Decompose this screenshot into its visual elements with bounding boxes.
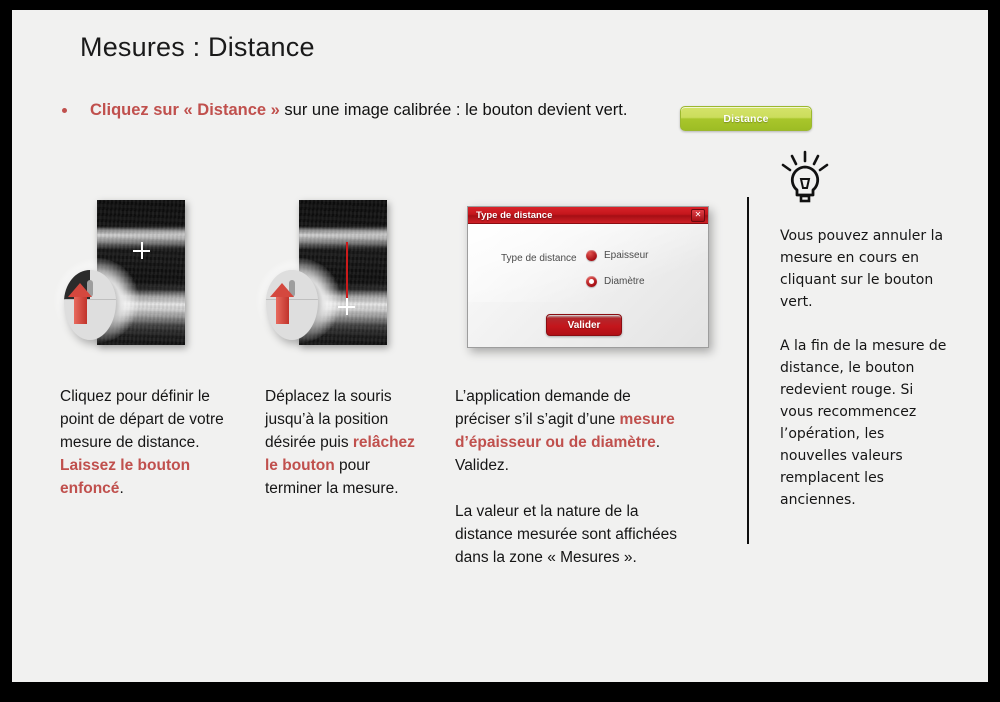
radio-label-epaisseur: Epaisseur [604, 250, 648, 261]
caption1-highlight: Laissez le bouton enfoncé [60, 457, 190, 497]
caption3-plain1: L’application demande de préciser s’il s… [455, 388, 631, 428]
bullet-row: Cliquez sur « Distance » sur une image c… [62, 98, 762, 126]
radio-label-diametre: Diamètre [604, 276, 645, 287]
sidebar-divider [747, 197, 749, 544]
caption3-paragraph-2: La valeur et la nature de la distance me… [455, 500, 680, 569]
distance-button-label: Distance [723, 113, 768, 125]
measure-line [346, 242, 348, 306]
figure-click-start [60, 200, 235, 350]
caption-column-3: L’application demande de préciser s’il s… [455, 385, 680, 569]
page-title: Mesures : Distance [80, 32, 315, 63]
dialog-title: Type de distance [476, 210, 552, 221]
figure-drag-release [262, 200, 437, 350]
distance-button[interactable]: Distance [680, 106, 812, 131]
lightbulb-icon [774, 150, 836, 205]
close-icon[interactable]: ✕ [691, 209, 705, 222]
radio-dot-icon [586, 250, 597, 261]
bullet-text: Cliquez sur « Distance » sur une image c… [90, 98, 627, 122]
caption3-paragraph-1: L’application demande de préciser s’il s… [455, 385, 680, 477]
caption-column-1: Cliquez pour définir le point de départ … [60, 385, 225, 500]
radio-option-epaisseur[interactable]: Epaisseur [586, 250, 648, 261]
mouse-right-button [292, 270, 318, 300]
bullet-rest: sur une image calibrée : le bouton devie… [280, 101, 628, 119]
tip-text: Vous pouvez annuler la mesure en cours e… [780, 225, 948, 511]
caption1-plain1: Cliquez pour définir le point de départ … [60, 388, 224, 451]
slide-frame: Mesures : Distance Cliquez sur « Distanc… [12, 10, 988, 682]
dialog-body: Type de distance Epaisseur Diamètre Vali… [468, 224, 708, 348]
valider-button[interactable]: Valider [546, 314, 622, 336]
tip-paragraph-2: A la fin de la mesure de distance, le bo… [780, 335, 948, 511]
caption-column-2: Déplacez la souris jusqu’à la position d… [265, 385, 415, 500]
radio-option-diametre[interactable]: Diamètre [586, 276, 645, 287]
crosshair-cursor-icon [133, 242, 150, 259]
bullet-dot-icon [62, 108, 67, 113]
valider-button-label: Valider [568, 320, 601, 331]
radio-dot-icon [586, 276, 597, 287]
mouse-right-button [90, 270, 116, 300]
caption1-plain2: . [119, 480, 123, 497]
mouse-release-arrow-icon [276, 296, 289, 324]
bullet-highlight: Cliquez sur « Distance » [90, 101, 280, 119]
tip-paragraph-1: Vous pouvez annuler la mesure en cours e… [780, 225, 948, 313]
field-label: Type de distance [501, 253, 577, 264]
mouse-press-arrow-icon [74, 296, 87, 324]
dialog-titlebar: Type de distance ✕ [468, 207, 708, 224]
type-de-distance-dialog: Type de distance ✕ Type de distance Epai… [467, 206, 709, 348]
